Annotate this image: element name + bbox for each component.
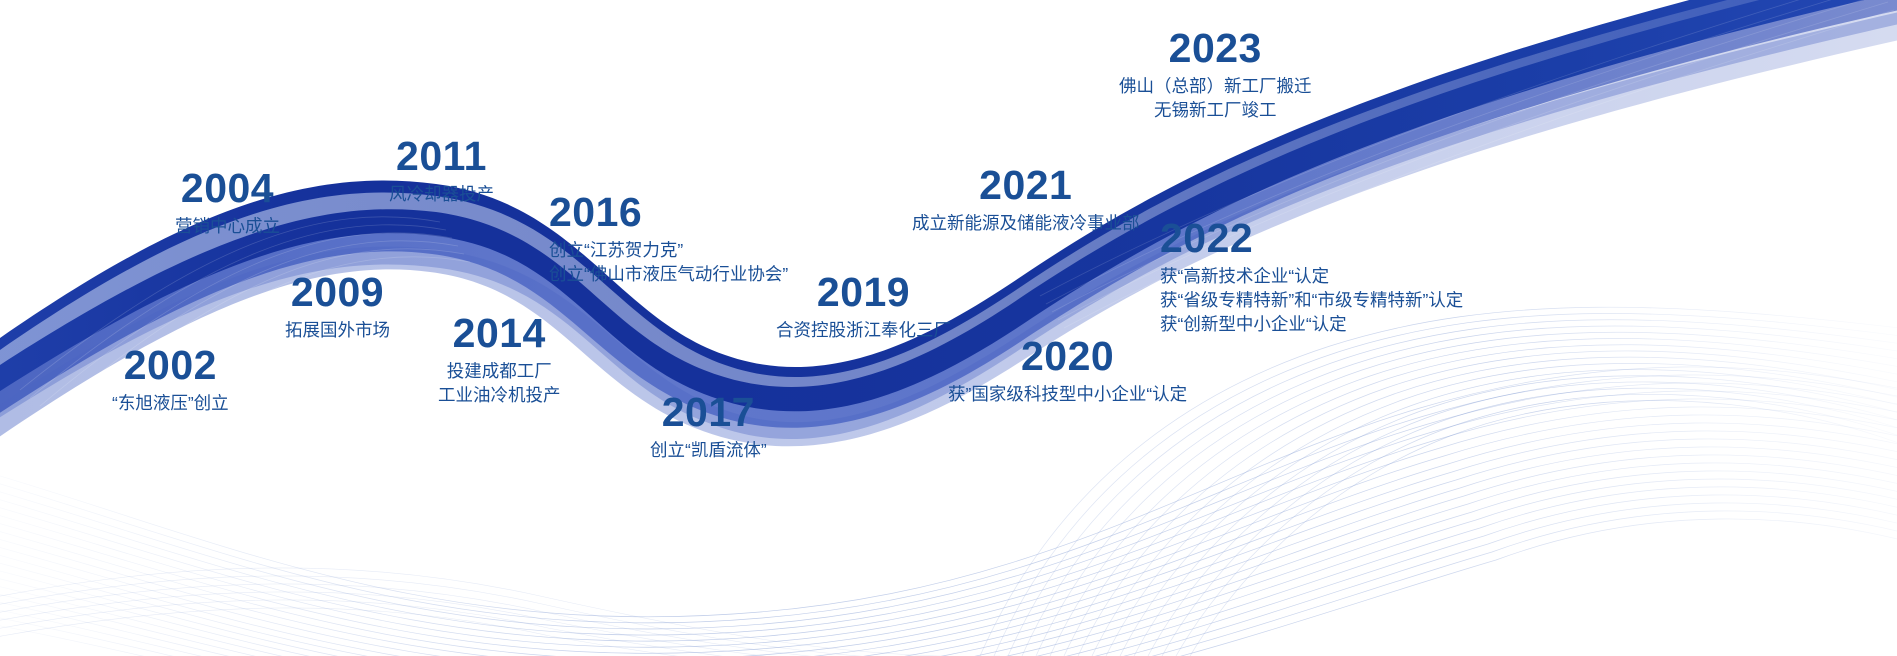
milestone-2011-description: 风冷却器投产 bbox=[389, 182, 494, 206]
milestone-2009[interactable]: 2009 拓展国外市场 bbox=[285, 272, 390, 342]
milestone-2022-description: 获“高新技术企业“认定 获“省级专精特新”和“市级专精特新”认定 获“创新型中小… bbox=[1160, 264, 1463, 336]
milestone-2014-description: 投建成都工厂 工业油冷机投产 bbox=[438, 359, 561, 407]
milestone-2016-description: 创立“江苏贺力克” 创立“佛山市液压气动行业协会” bbox=[549, 238, 788, 286]
milestone-2023-line-1: 佛山（总部）新工厂搬迁 bbox=[1119, 74, 1312, 98]
milestone-2016-year: 2016 bbox=[549, 192, 788, 233]
milestone-labels: 2002 “东旭液压”创立 2004 营销中心成立 2009 拓展国外市场 20… bbox=[0, 0, 1897, 656]
milestone-2017-description: 创立“凯盾流体” bbox=[650, 438, 767, 462]
milestone-2020-description: 获”国家级科技型中小企业“认定 bbox=[948, 382, 1187, 406]
milestone-2016[interactable]: 2016 创立“江苏贺力克” 创立“佛山市液压气动行业协会” bbox=[549, 192, 788, 286]
milestone-2021-description: 成立新能源及储能液冷事业部 bbox=[912, 211, 1140, 235]
milestone-2009-line-1: 拓展国外市场 bbox=[285, 318, 390, 342]
milestone-2017-year: 2017 bbox=[650, 392, 767, 433]
milestone-2022[interactable]: 2022 获“高新技术企业“认定 获“省级专精特新”和“市级专精特新”认定 获“… bbox=[1160, 218, 1463, 336]
milestone-2011-line-1: 风冷却器投产 bbox=[389, 182, 494, 206]
milestone-2022-line-1: 获“高新技术企业“认定 bbox=[1160, 264, 1463, 288]
milestone-2011-year: 2011 bbox=[389, 136, 494, 177]
milestone-2021-line-1: 成立新能源及储能液冷事业部 bbox=[912, 211, 1140, 235]
milestone-2002-year: 2002 bbox=[112, 345, 229, 386]
milestone-2016-line-2: 创立“佛山市液压气动行业协会” bbox=[549, 262, 788, 286]
milestone-2014[interactable]: 2014 投建成都工厂 工业油冷机投产 bbox=[438, 313, 561, 407]
milestone-2021-year: 2021 bbox=[912, 165, 1140, 206]
milestone-2020-year: 2020 bbox=[948, 336, 1187, 377]
milestone-2009-year: 2009 bbox=[285, 272, 390, 313]
milestone-2019-description: 合资控股浙江奉化三厂 bbox=[776, 318, 951, 342]
milestone-2002-line-1: “东旭液压”创立 bbox=[112, 391, 229, 415]
milestone-2020-line-1: 获”国家级科技型中小企业“认定 bbox=[948, 382, 1187, 406]
milestone-2002-description: “东旭液压”创立 bbox=[112, 391, 229, 415]
milestone-2023-year: 2023 bbox=[1119, 28, 1312, 69]
milestone-2019-line-1: 合资控股浙江奉化三厂 bbox=[776, 318, 951, 342]
milestone-2004-year: 2004 bbox=[175, 168, 280, 209]
milestone-2014-year: 2014 bbox=[438, 313, 561, 354]
milestone-2019[interactable]: 2019 合资控股浙江奉化三厂 bbox=[776, 272, 951, 342]
milestone-2017[interactable]: 2017 创立“凯盾流体” bbox=[650, 392, 767, 462]
milestone-2014-line-1: 投建成都工厂 bbox=[438, 359, 561, 383]
milestone-2020[interactable]: 2020 获”国家级科技型中小企业“认定 bbox=[948, 336, 1187, 406]
milestone-2022-line-3: 获“创新型中小企业“认定 bbox=[1160, 312, 1463, 336]
milestone-2021[interactable]: 2021 成立新能源及储能液冷事业部 bbox=[912, 165, 1140, 235]
milestone-2004-description: 营销中心成立 bbox=[175, 214, 280, 238]
milestone-2017-line-1: 创立“凯盾流体” bbox=[650, 438, 767, 462]
milestone-2002[interactable]: 2002 “东旭液压”创立 bbox=[112, 345, 229, 415]
milestone-2023-description: 佛山（总部）新工厂搬迁 无锡新工厂竣工 bbox=[1119, 74, 1312, 122]
milestone-2016-line-1: 创立“江苏贺力克” bbox=[549, 238, 788, 262]
milestone-2022-line-2: 获“省级专精特新”和“市级专精特新”认定 bbox=[1160, 288, 1463, 312]
milestone-2023-line-2: 无锡新工厂竣工 bbox=[1119, 98, 1312, 122]
milestone-2009-description: 拓展国外市场 bbox=[285, 318, 390, 342]
timeline-infographic: 2002 “东旭液压”创立 2004 营销中心成立 2009 拓展国外市场 20… bbox=[0, 0, 1897, 656]
milestone-2011[interactable]: 2011 风冷却器投产 bbox=[389, 136, 494, 206]
milestone-2004-line-1: 营销中心成立 bbox=[175, 214, 280, 238]
milestone-2019-year: 2019 bbox=[776, 272, 951, 313]
milestone-2022-year: 2022 bbox=[1160, 218, 1463, 259]
milestone-2023[interactable]: 2023 佛山（总部）新工厂搬迁 无锡新工厂竣工 bbox=[1119, 28, 1312, 122]
milestone-2004[interactable]: 2004 营销中心成立 bbox=[175, 168, 280, 238]
milestone-2014-line-2: 工业油冷机投产 bbox=[438, 383, 561, 407]
